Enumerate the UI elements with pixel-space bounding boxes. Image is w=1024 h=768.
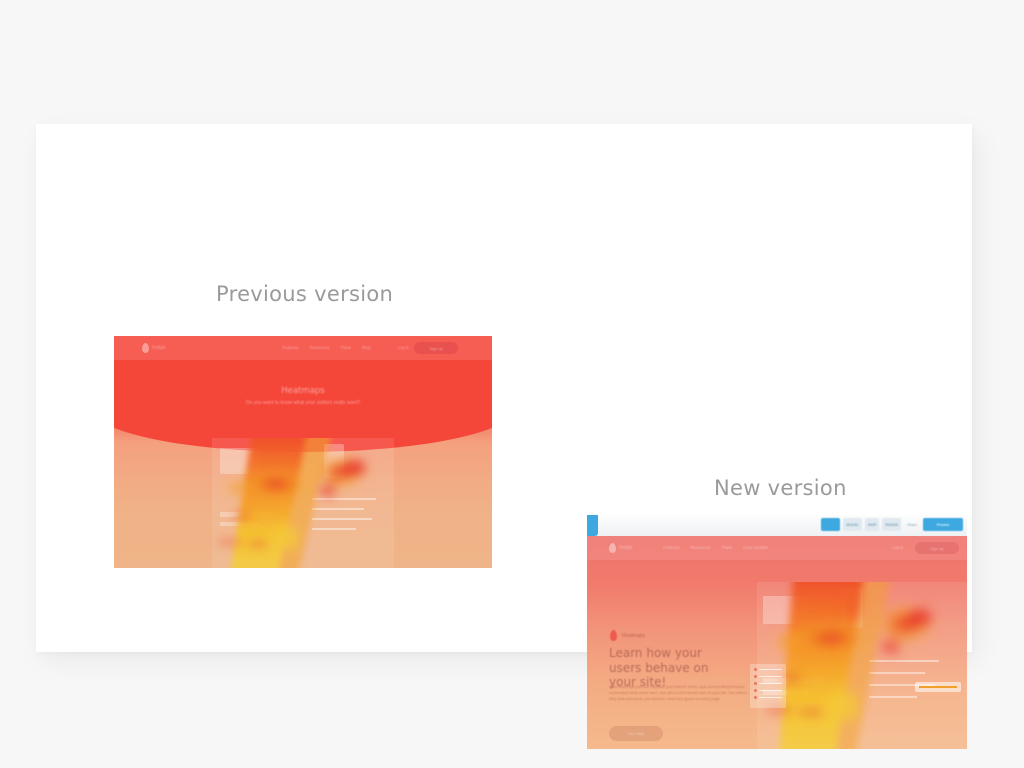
- slide-root: Previous version hotjar Features Resourc…: [0, 0, 1024, 768]
- new-signup-button[interactable]: Sign up: [915, 542, 959, 554]
- flame-icon: [610, 630, 617, 641]
- list-item: [754, 675, 782, 678]
- presentation-card: Previous version hotjar Features Resourc…: [36, 124, 972, 652]
- nav-item-blog[interactable]: Blog: [362, 345, 370, 350]
- new-hero-cta-button[interactable]: Try it free: [609, 726, 663, 741]
- browser-toolbar: MODEL INSP RESIZE Share Preview: [587, 515, 967, 537]
- toolbar-button-resize[interactable]: RESIZE: [882, 518, 901, 531]
- new-logo[interactable]: hotjar: [609, 543, 633, 553]
- browser-tab-icon[interactable]: [587, 515, 598, 536]
- previous-signup-button[interactable]: Sign up: [414, 342, 458, 354]
- list-item-bar: [759, 690, 782, 692]
- logo-wordmark: hotjar: [152, 345, 166, 351]
- nav-item-plans[interactable]: Plans: [722, 545, 732, 550]
- list-item-bar: [759, 683, 782, 685]
- nav-item-features[interactable]: Features: [282, 345, 299, 350]
- list-item-bar: [759, 676, 782, 678]
- nav-item-login[interactable]: Log in: [892, 545, 903, 550]
- logo-wordmark: hotjar: [619, 545, 633, 551]
- list-item: [754, 689, 782, 692]
- previous-version-mockup[interactable]: hotjar Features Resources Plans Blog Log…: [114, 336, 492, 568]
- toolbar-button-share[interactable]: Share: [904, 518, 920, 531]
- new-hero-cta-label: Try it free: [628, 731, 645, 736]
- new-version-caption: New version: [714, 476, 847, 500]
- browser-toolbar-buttons[interactable]: MODEL INSP RESIZE Share Preview: [821, 518, 963, 531]
- new-nav[interactable]: Features Resources Plans Case Studies: [663, 545, 768, 550]
- previous-logo[interactable]: hotjar: [142, 343, 166, 353]
- previous-heatmap-overlay: [212, 438, 394, 568]
- bullet-icon: [754, 668, 757, 671]
- new-progress-badge: [915, 682, 961, 692]
- list-item-bar: [759, 697, 782, 699]
- new-version-mockup[interactable]: MODEL INSP RESIZE Share Preview hotjar F…: [587, 515, 967, 749]
- new-side-list-card[interactable]: [750, 664, 786, 708]
- list-item: [754, 682, 782, 685]
- previous-heatmap-screenshot[interactable]: [212, 438, 394, 568]
- previous-version-caption: Previous version: [216, 282, 393, 306]
- new-signup-label: Sign up: [930, 546, 944, 551]
- previous-nav[interactable]: Features Resources Plans Blog Log in: [282, 345, 409, 350]
- nav-item-plans[interactable]: Plans: [341, 345, 351, 350]
- previous-hero-title: Heatmaps: [114, 386, 492, 396]
- new-progress-bar: [919, 686, 957, 688]
- nav-item-case-studies[interactable]: Case Studies: [743, 545, 768, 550]
- new-eyebrow-label: Heatmaps: [622, 633, 645, 639]
- new-heatmap-screenshot[interactable]: [757, 582, 967, 749]
- new-headline: Learn how your users behave on your site…: [609, 646, 737, 690]
- bullet-icon: [754, 675, 757, 678]
- new-version-page: hotjar Features Resources Plans Case Stu…: [587, 536, 967, 749]
- new-body-text: With Heatmaps you can visualize your vis…: [609, 684, 749, 702]
- new-heatmap-overlay: [757, 582, 967, 749]
- bullet-icon: [754, 682, 757, 685]
- list-item: [754, 696, 782, 699]
- nav-item-resources[interactable]: Resources: [310, 345, 330, 350]
- toolbar-button-model[interactable]: MODEL: [843, 518, 862, 531]
- flame-icon: [142, 343, 149, 353]
- list-item-bar: [759, 669, 782, 671]
- toolbar-button-preview[interactable]: Preview: [923, 518, 963, 531]
- previous-hero-subtitle: Do you want to know what your visitors r…: [114, 400, 492, 406]
- flame-icon: [609, 543, 616, 553]
- nav-item-login[interactable]: Log in: [397, 345, 408, 350]
- new-login-link-wrap[interactable]: Log in: [892, 545, 903, 550]
- new-eyebrow: Heatmaps: [610, 630, 645, 641]
- previous-signup-label: Sign up: [429, 346, 443, 351]
- nav-item-resources[interactable]: Resources: [691, 545, 711, 550]
- toolbar-button-insp[interactable]: INSP: [865, 518, 879, 531]
- new-navbar: [587, 536, 967, 560]
- list-item: [754, 668, 782, 671]
- toolbar-button-0[interactable]: [821, 518, 840, 531]
- bullet-icon: [754, 696, 757, 699]
- bullet-icon: [754, 689, 757, 692]
- nav-item-features[interactable]: Features: [663, 545, 680, 550]
